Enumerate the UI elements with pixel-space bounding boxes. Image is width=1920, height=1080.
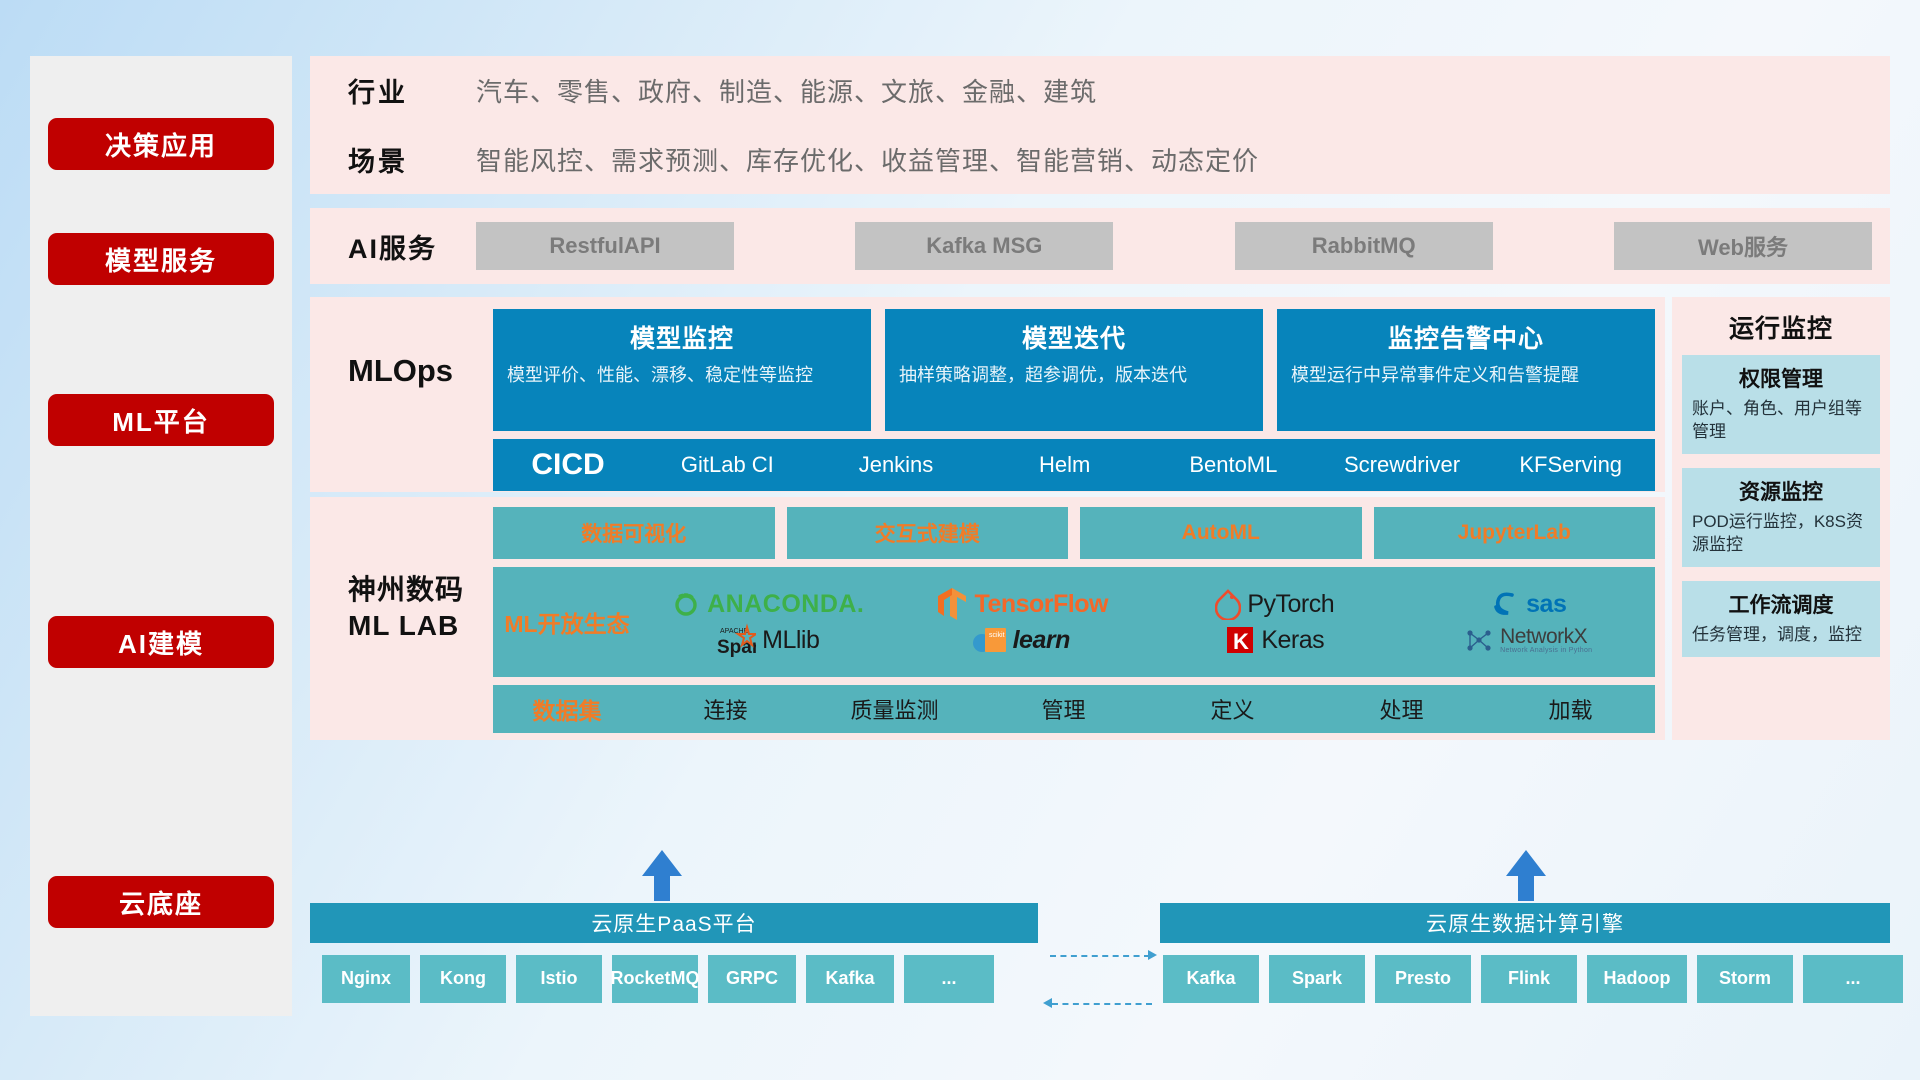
keras-icon: K <box>1225 625 1255 655</box>
mlops-card-alert-center[interactable]: 监控告警中心 模型运行中异常事件定义和告警提醒 <box>1277 309 1655 431</box>
paas-chip-nginx[interactable]: Nginx <box>322 955 410 1003</box>
mlops-card-model-iteration[interactable]: 模型迭代 抽样策略调整，超参调优，版本迭代 <box>885 309 1263 431</box>
industry-row: 行业 汽车、零售、政府、制造、能源、文旅、金融、建筑 <box>310 56 1890 125</box>
cicd-item-screwdriver[interactable]: Screwdriver <box>1318 452 1487 477</box>
data-chip-kafka[interactable]: Kafka <box>1163 955 1259 1003</box>
dataset-item-process[interactable]: 处理 <box>1317 693 1486 725</box>
networkx-icon <box>1464 625 1494 655</box>
paas-chip-istio[interactable]: Istio <box>516 955 602 1003</box>
scenario-values: 智能风控、需求预测、库存优化、收益管理、智能营销、动态定价 <box>476 141 1259 178</box>
modeling-tabs: 数据可视化 交互式建模 AutoML JupyterLab <box>493 507 1655 559</box>
ai-modeling-band: 神州数码 ML LAB 数据可视化 交互式建模 AutoML JupyterLa… <box>310 497 1665 740</box>
card-desc: 模型评价、性能、漂移、稳定性等监控 <box>507 363 857 387</box>
logo-scikit-learn: scikit learn <box>973 624 1070 656</box>
cloud-data-engine-bar[interactable]: 云原生数据计算引擎 <box>1160 903 1890 943</box>
rail-tag-model-service[interactable]: 模型服务 <box>48 233 274 285</box>
cicd-bar: CICD GitLab CI Jenkins Helm BentoML Scre… <box>493 439 1655 491</box>
sas-icon <box>1490 590 1520 618</box>
mlops-card-model-monitoring[interactable]: 模型监控 模型评价、性能、漂移、稳定性等监控 <box>493 309 871 431</box>
card-desc: 模型运行中异常事件定义和告警提醒 <box>1291 363 1641 387</box>
data-arrow-stem <box>1518 875 1534 901</box>
data-chip-spark[interactable]: Spark <box>1269 955 1365 1003</box>
tab-jupyterlab[interactable]: JupyterLab <box>1374 507 1656 559</box>
rail-tag-ai-modeling[interactable]: AI建模 <box>48 616 274 668</box>
industry-label: 行业 <box>348 71 476 110</box>
logo-spark-mllib: APACHE Spark MLlib <box>716 623 819 657</box>
cicd-item-helm[interactable]: Helm <box>980 452 1149 477</box>
link-dashed-top <box>1050 955 1150 957</box>
card-title: 工作流调度 <box>1692 589 1870 619</box>
logo-label: Keras <box>1261 626 1324 655</box>
card-title: 监控告警中心 <box>1291 319 1641 355</box>
data-chip-presto[interactable]: Presto <box>1375 955 1471 1003</box>
cloud-paas-bar[interactable]: 云原生PaaS平台 <box>310 903 1038 943</box>
dataset-label: 数据集 <box>493 692 641 726</box>
logo-label: PyTorch <box>1247 590 1334 619</box>
cicd-item-gitlab-ci[interactable]: GitLab CI <box>643 452 812 477</box>
layer-rail: 决策应用 模型服务 ML平台 AI建模 云底座 <box>30 56 292 1016</box>
paas-chip-kong[interactable]: Kong <box>420 955 506 1003</box>
paas-chip-row: Nginx Kong Istio RocketMQ GRPC Kafka ... <box>322 955 994 1003</box>
logo-networkx: NetworkX Network Analysis in Python <box>1464 625 1592 655</box>
paas-chip-grpc[interactable]: GRPC <box>708 955 796 1003</box>
logo-label: NetworkX <box>1500 626 1592 647</box>
card-desc: 账户、角色、用户组等管理 <box>1692 398 1870 444</box>
ml-open-ecosystem: ML开放生态 ANACONDA. TensorFlow <box>493 567 1655 677</box>
monitor-card-resource[interactable]: 资源监控 POD运行监控，K8S资源监控 <box>1682 468 1880 567</box>
dataset-item-define[interactable]: 定义 <box>1148 693 1317 725</box>
ml-lab-label-line1: 神州数码 <box>348 572 464 608</box>
runtime-monitoring-title: 运行监控 <box>1672 297 1890 355</box>
logo-anaconda: ANACONDA. <box>671 589 864 619</box>
data-chip-flink[interactable]: Flink <box>1481 955 1577 1003</box>
link-arrow-left <box>1043 998 1052 1008</box>
service-chip-kafka-msg[interactable]: Kafka MSG <box>855 222 1113 270</box>
cicd-label: CICD <box>493 448 643 482</box>
link-dashed-bottom <box>1052 1003 1152 1005</box>
tab-data-visualization[interactable]: 数据可视化 <box>493 507 775 559</box>
industry-values: 汽车、零售、政府、制造、能源、文旅、金融、建筑 <box>476 72 1097 109</box>
dataset-row: 数据集 连接 质量监测 管理 定义 处理 加载 <box>493 685 1655 733</box>
ml-lab-label-line2: ML LAB <box>348 608 464 644</box>
service-chip-rabbitmq[interactable]: RabbitMQ <box>1235 222 1493 270</box>
dataset-item-load[interactable]: 加载 <box>1486 693 1655 725</box>
pytorch-icon <box>1215 588 1241 620</box>
networkx-tagline: Network Analysis in Python <box>1500 647 1592 654</box>
card-desc: 抽样策略调整，超参调优，版本迭代 <box>899 363 1249 387</box>
logo-sas: sas <box>1490 590 1566 619</box>
cicd-item-kfserving[interactable]: KFServing <box>1486 452 1655 477</box>
diagram-canvas: 决策应用 模型服务 ML平台 AI建模 云底座 行业 汽车、零售、政府、制造、能… <box>0 0 1920 1080</box>
card-title: 资源监控 <box>1692 476 1870 506</box>
card-title: 模型迭代 <box>899 319 1249 355</box>
spark-icon: APACHE Spark <box>716 623 756 657</box>
card-title: 权限管理 <box>1692 363 1870 393</box>
logo-label: MLlib <box>762 626 819 655</box>
svg-text:K: K <box>1233 629 1249 654</box>
dataset-item-quality-monitor[interactable]: 质量监测 <box>810 693 979 725</box>
tab-automl[interactable]: AutoML <box>1080 507 1362 559</box>
eco-label: ML开放生态 <box>493 605 641 639</box>
data-chip-hadoop[interactable]: Hadoop <box>1587 955 1687 1003</box>
logo-pytorch: PyTorch <box>1215 588 1334 620</box>
scenario-label: 场景 <box>348 140 476 179</box>
logo-label: sas <box>1526 590 1566 619</box>
data-chip-storm[interactable]: Storm <box>1697 955 1793 1003</box>
scikit-learn-icon: scikit <box>973 624 1007 656</box>
scenario-row: 场景 智能风控、需求预测、库存优化、收益管理、智能营销、动态定价 <box>310 125 1890 194</box>
tensorflow-icon <box>935 586 969 622</box>
data-chip-more[interactable]: ... <box>1803 955 1903 1003</box>
ai-service-band: AI服务 RestfulAPI Kafka MSG RabbitMQ Web服务 <box>310 208 1890 284</box>
rail-tag-cloud-base[interactable]: 云底座 <box>48 876 274 928</box>
rail-tag-decision[interactable]: 决策应用 <box>48 118 274 170</box>
logo-tensorflow: TensorFlow <box>935 586 1108 622</box>
dataset-item-connect[interactable]: 连接 <box>641 693 810 725</box>
monitor-card-workflow[interactable]: 工作流调度 任务管理，调度，监控 <box>1682 581 1880 657</box>
ai-service-label: AI服务 <box>348 227 476 266</box>
service-chip-restfulapi[interactable]: RestfulAPI <box>476 222 734 270</box>
paas-chip-more[interactable]: ... <box>904 955 994 1003</box>
cicd-item-jenkins[interactable]: Jenkins <box>812 452 981 477</box>
logo-keras: K Keras <box>1225 625 1324 655</box>
logo-label: ANACONDA. <box>707 590 864 619</box>
card-desc: POD运行监控，K8S资源监控 <box>1692 511 1870 557</box>
link-arrow-right <box>1148 950 1157 960</box>
card-title: 模型监控 <box>507 319 857 355</box>
ml-lab-label: 神州数码 ML LAB <box>348 572 464 645</box>
data-arrow-head <box>1506 850 1546 876</box>
logo-label: TensorFlow <box>975 590 1108 619</box>
paas-chip-rocketmq[interactable]: RocketMQ <box>612 955 698 1003</box>
paas-chip-kafka[interactable]: Kafka <box>806 955 894 1003</box>
mlops-band: MLOps 模型监控 模型评价、性能、漂移、稳定性等监控 模型迭代 抽样策略调整… <box>310 297 1665 492</box>
monitor-card-permission[interactable]: 权限管理 账户、角色、用户组等管理 <box>1682 355 1880 454</box>
logo-label: learn <box>1013 626 1070 655</box>
runtime-monitoring-column: 运行监控 权限管理 账户、角色、用户组等管理 资源监控 POD运行监控，K8S资… <box>1672 297 1890 740</box>
cicd-item-bentoml[interactable]: BentoML <box>1149 452 1318 477</box>
dataset-item-manage[interactable]: 管理 <box>979 693 1148 725</box>
paas-arrow-head <box>642 850 682 876</box>
mlops-label: MLOps <box>348 353 453 389</box>
svg-text:scikit: scikit <box>989 632 1005 639</box>
service-chip-web-service[interactable]: Web服务 <box>1614 222 1872 270</box>
anaconda-icon <box>671 589 701 619</box>
rail-tag-ml-platform[interactable]: ML平台 <box>48 394 274 446</box>
data-engine-chip-row: Kafka Spark Presto Flink Hadoop Storm ..… <box>1163 955 1903 1003</box>
decision-apps-band: 行业 汽车、零售、政府、制造、能源、文旅、金融、建筑 场景 智能风控、需求预测、… <box>310 56 1890 194</box>
paas-arrow-stem <box>654 875 670 901</box>
card-desc: 任务管理，调度，监控 <box>1692 624 1870 647</box>
tab-interactive-modeling[interactable]: 交互式建模 <box>787 507 1069 559</box>
